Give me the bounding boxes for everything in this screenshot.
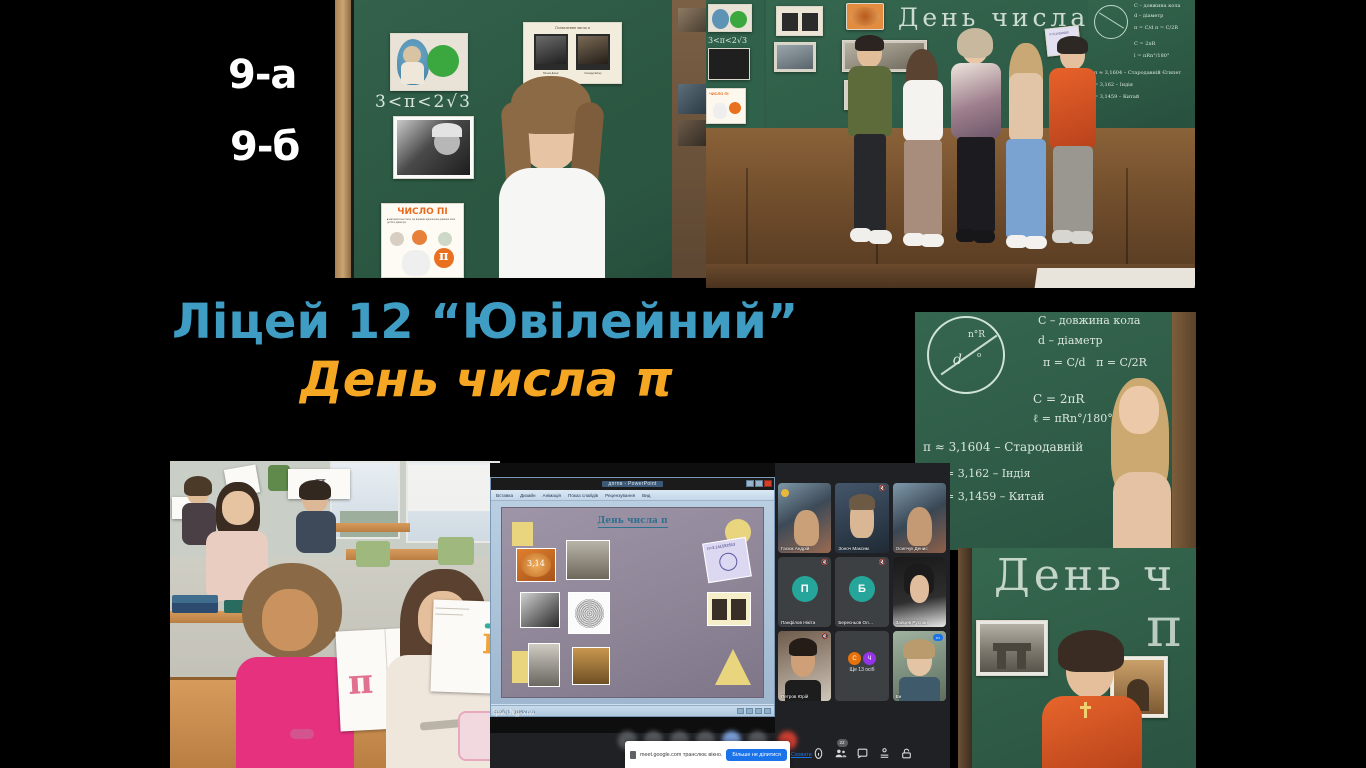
participant-tile[interactable]: П 🔇 Панфілов Нікіта: [778, 557, 831, 627]
slide-photo-pie: 3,14: [516, 548, 556, 582]
slide-collage: Позначення числа π Вільям Джонс Леонард …: [0, 0, 1366, 768]
stop-sharing-button[interactable]: Більше не ділитися: [726, 749, 787, 761]
info-icon[interactable]: [812, 747, 825, 760]
slide-photo-pi-digits: π=3.141592653: [702, 537, 752, 583]
self-view-tile[interactable]: ••• Ви: [893, 631, 946, 701]
participant-tile[interactable]: Зайцев Руслан: [893, 557, 946, 627]
view-normal-icon[interactable]: [737, 708, 744, 714]
chat-icon[interactable]: [856, 747, 869, 760]
page-title: Ліцей 12 “Ювілейний”: [172, 294, 812, 350]
slide-photo-tower: [528, 643, 560, 687]
host-controls-icon[interactable]: [900, 747, 913, 760]
photo-group: 3<π<2√3 ЧИСЛО ПІ День числа π≈3,14159265: [706, 0, 1195, 288]
share-message: meet.google.com транслює вікно.: [640, 752, 722, 758]
slide-1[interactable]: День числа π 3,14 π=3.14159: [501, 507, 764, 698]
photo-classroom: π: [170, 461, 500, 768]
participant-tile[interactable]: 🔇 Зоноч Максим: [835, 483, 888, 553]
slide-photo-arch: [572, 647, 610, 685]
minimize-icon[interactable]: [746, 480, 754, 487]
slide-photo-einstein: [520, 592, 560, 628]
mic-off-icon: 🔇: [879, 486, 886, 493]
participant-name: Панфілов Нікіта: [781, 620, 815, 625]
more-options-icon[interactable]: •••: [933, 634, 943, 641]
google-meet-window[interactable]: дпгпв - PowerPoint Вставка Дизайн Анімац…: [490, 463, 950, 768]
chalk-inequality: 3<π<2√3: [375, 92, 472, 112]
monitor-icon: [630, 751, 636, 759]
video-feed: [893, 483, 946, 553]
shape-rect-top-left: [512, 522, 533, 546]
more-participants-label: Ще 13 осіб: [849, 667, 874, 673]
menu-item-view[interactable]: Вид: [642, 493, 650, 498]
powerpoint-menubar[interactable]: Вставка Дизайн Анімація Показ слайдів Ре…: [491, 490, 774, 501]
participant-tile[interactable]: Б 🔇 Бересньов Ол…: [835, 557, 888, 627]
window-controls[interactable]: [746, 480, 772, 487]
avatar: Ч: [863, 652, 876, 665]
slide-photo-circle-diagram: [568, 592, 610, 634]
powerpoint-window[interactable]: дпгпв - PowerPoint Вставка Дизайн Анімац…: [490, 477, 775, 717]
video-feed: [835, 483, 888, 553]
chalk-den-chysla-pi: День ч: [994, 550, 1176, 601]
shape-triangle-bottom-right: [715, 649, 751, 685]
avatar: П: [792, 576, 818, 602]
powerpoint-canvas[interactable]: День числа π 3,14 π=3.14159: [491, 501, 774, 704]
avatar: С: [848, 652, 861, 665]
participant-name: Зоноч Максим: [838, 546, 869, 551]
mic-off-icon: 🔇: [821, 560, 828, 567]
powerpoint-title: дпгпв - PowerPoint: [602, 481, 662, 487]
poster-archimedes: [390, 33, 468, 91]
video-feed: [778, 631, 831, 701]
photo-board-girl: Позначення числа π Вільям Джонс Леонард …: [335, 0, 710, 278]
menu-item-design[interactable]: Дизайн: [520, 493, 535, 498]
people-icon[interactable]: 22: [834, 747, 847, 760]
participant-tile[interactable]: 🔇 Петров Юрій: [778, 631, 831, 701]
zoom-slider[interactable]: [764, 708, 771, 714]
video-feed: [893, 557, 946, 627]
status-view-controls[interactable]: [737, 708, 771, 714]
avatar-stack: С Ч: [848, 652, 876, 665]
hide-button[interactable]: Сховати: [791, 752, 812, 758]
maximize-icon[interactable]: [755, 480, 763, 487]
participants-count-badge: 22: [837, 739, 848, 747]
close-icon[interactable]: [764, 480, 772, 487]
view-sorter-icon[interactable]: [746, 708, 753, 714]
page-subtitle: День числа π: [300, 352, 673, 408]
slide-photo-portraits: [707, 592, 751, 626]
participant-grid[interactable]: Гасюк Андрій 🔇 Зоноч Максим Осипчук Дени…: [778, 483, 946, 701]
view-reading-icon[interactable]: [755, 708, 762, 714]
powerpoint-titlebar: дпгпв - PowerPoint: [491, 478, 774, 490]
slide-photo-dolmen: [566, 540, 610, 580]
class-label-9a: 9-а: [228, 52, 296, 98]
menu-item-animation[interactable]: Анімація: [543, 493, 561, 498]
poster-pi-notation: Позначення числа π Вільям Джонс Леонард …: [523, 22, 622, 84]
participant-name: Зайцев Руслан: [896, 620, 928, 625]
photo-formula-board: n°R d o C – довжина кола d – діаметр π =…: [915, 312, 1196, 550]
mic-off-icon: 🔇: [879, 560, 886, 567]
participant-name: Петров Юрій: [781, 694, 808, 699]
more-participants-tile[interactable]: С Ч Ще 13 осіб: [835, 631, 888, 701]
video-feed: [778, 483, 831, 553]
shared-screen-stage[interactable]: дпгпв - PowerPoint Вставка Дизайн Анімац…: [490, 463, 775, 733]
avatar: Б: [849, 576, 875, 602]
poster-chyslo-pi: ЧИСЛО ПІ ■ математична стала, що виражає…: [381, 203, 464, 278]
slide-title: День числа π: [597, 516, 667, 528]
menu-item-insert[interactable]: Вставка: [496, 493, 513, 498]
poster-einstein: [393, 116, 474, 179]
class-label-9b: 9-б: [230, 124, 299, 170]
video-feed: [893, 631, 946, 701]
screen-share-notification[interactable]: meet.google.com транслює вікно. Більше н…: [625, 741, 790, 768]
participant-name: Осипчук Денис: [896, 546, 928, 551]
activities-icon[interactable]: [878, 747, 891, 760]
menu-item-review[interactable]: Рецензування: [605, 493, 635, 498]
meeting-code: fpw-fvjj-xiw: [493, 708, 535, 717]
menu-item-slideshow[interactable]: Показ слайдів: [568, 493, 598, 498]
participant-name: Ви: [896, 694, 902, 699]
participant-name: Гасюк Андрій: [781, 546, 809, 551]
mic-off-icon: 🔇: [821, 634, 828, 641]
participant-tile[interactable]: Гасюк Андрій: [778, 483, 831, 553]
participant-tile[interactable]: Осипчук Денис: [893, 483, 946, 553]
participant-name: Бересньов Ол…: [838, 620, 873, 625]
photo-boy-board: День ч π: [958, 548, 1196, 768]
